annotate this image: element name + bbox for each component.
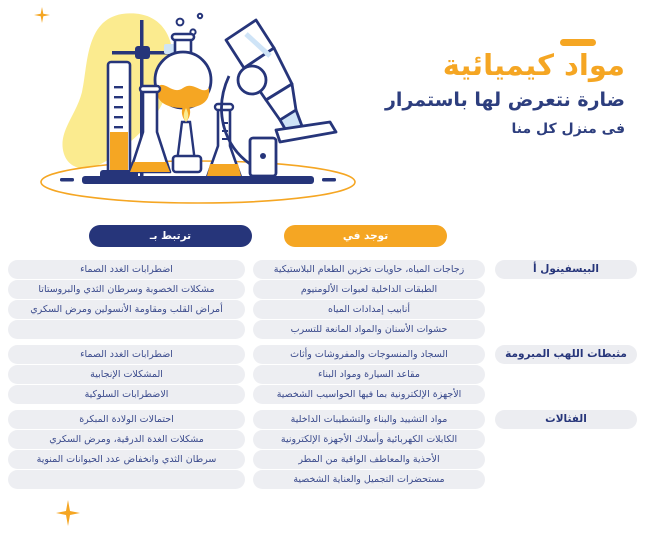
- row-category-spacer: [495, 300, 637, 319]
- chemistry-lab-illustration: [30, 4, 360, 209]
- row-category-spacer: [495, 430, 637, 449]
- page-subtitle: ضارة نتعرض لها باستمرار: [325, 88, 625, 113]
- row-linked-to: مشكلات الخصوبة وسرطان الثدي والبروستاتا: [8, 280, 245, 299]
- row-linked-to: المشكلات الإنجابية: [8, 365, 245, 384]
- row-category-spacer: [495, 385, 637, 404]
- table-row: أنابيب إمدادات المياه أمراض القلب ومقاوم…: [0, 300, 645, 319]
- row-found-in: السجاد والمنسوجات والمفروشات وأثاث: [253, 345, 485, 364]
- sparkle-icon-bottom-left: [56, 500, 80, 526]
- row-found-in: حشوات الأسنان والمواد المانعة للتسرب: [253, 320, 485, 339]
- row-linked-to-empty: [8, 470, 245, 489]
- column-header-linked-to: ترتبط بـ: [89, 225, 252, 247]
- row-category-label: مثبطات اللهب المبرومة: [495, 345, 637, 364]
- row-found-in: زجاجات المياه، حاويات تخزين الطعام البلا…: [253, 260, 485, 279]
- table-row: البيسفينول أ زجاجات المياه، حاويات تخزين…: [0, 260, 645, 279]
- table-section-bisphenol-a: البيسفينول أ زجاجات المياه، حاويات تخزين…: [0, 260, 645, 339]
- table-row: الكابلات الكهربائية وأسلاك الأجهزة الإلك…: [0, 430, 645, 449]
- row-linked-to: أمراض القلب ومقاومة الأنسولين ومرض السكر…: [8, 300, 245, 319]
- table-section-brominated-flame-retardants: مثبطات اللهب المبرومة السجاد والمنسوجات …: [0, 345, 645, 404]
- row-linked-to-empty: [8, 320, 245, 339]
- row-category-spacer: [495, 365, 637, 384]
- row-found-in: الكابلات الكهربائية وأسلاك الأجهزة الإلك…: [253, 430, 485, 449]
- row-found-in: الطبقات الداخلية لعبوات الألومنيوم: [253, 280, 485, 299]
- table-row: مثبطات اللهب المبرومة السجاد والمنسوجات …: [0, 345, 645, 364]
- infographic-page: مواد كيميائية ضارة نتعرض لها باستمرار فى…: [0, 0, 645, 533]
- row-category-label: الفثالات: [495, 410, 637, 429]
- row-linked-to: مشكلات الغدة الدرقية، ومرض السكري: [8, 430, 245, 449]
- row-category-spacer: [495, 450, 637, 469]
- title-block: مواد كيميائية ضارة نتعرض لها باستمرار فى…: [325, 48, 625, 138]
- row-found-in: الأحذية والمعاطف الواقية من المطر: [253, 450, 485, 469]
- table-row: الأجهزة الإلكترونية بما فيها الحواسيب ال…: [0, 385, 645, 404]
- row-linked-to: سرطان الثدي وانخفاض عدد الحيوانات المنوي…: [8, 450, 245, 469]
- table-row: الفثالات مواد التشييد والبناء والتشطيبات…: [0, 410, 645, 429]
- row-found-in: مقاعد السيارة ومواد البناء: [253, 365, 485, 384]
- row-found-in: مستحضرات التجميل والعناية الشخصية: [253, 470, 485, 489]
- table-row: الطبقات الداخلية لعبوات الألومنيوم مشكلا…: [0, 280, 645, 299]
- row-linked-to: احتمالات الولادة المبكرة: [8, 410, 245, 429]
- page-title: مواد كيميائية: [325, 48, 625, 83]
- table-row: حشوات الأسنان والمواد المانعة للتسرب: [0, 320, 645, 339]
- table-row: مقاعد السيارة ومواد البناء المشكلات الإن…: [0, 365, 645, 384]
- column-header-found-in: توجد في: [284, 225, 447, 247]
- table-row: مستحضرات التجميل والعناية الشخصية: [0, 470, 645, 489]
- row-found-in: الأجهزة الإلكترونية بما فيها الحواسيب ال…: [253, 385, 485, 404]
- chemicals-table: توجد في ترتبط بـ البيسفينول أ زجاجات الم…: [0, 225, 645, 495]
- row-linked-to: اضطرابات الغدد الصماء: [8, 345, 245, 364]
- row-category-label: البيسفينول أ: [495, 260, 637, 279]
- row-category-spacer: [495, 320, 637, 339]
- table-header-row: توجد في ترتبط بـ: [0, 225, 645, 251]
- row-found-in: مواد التشييد والبناء والتشطيبات الداخلية: [253, 410, 485, 429]
- page-subtitle-secondary: فى منزل كل منا: [325, 120, 625, 138]
- row-category-spacer: [495, 280, 637, 299]
- table-section-phthalates: الفثالات مواد التشييد والبناء والتشطيبات…: [0, 410, 645, 489]
- table-row: الأحذية والمعاطف الواقية من المطر سرطان …: [0, 450, 645, 469]
- hero-section: مواد كيميائية ضارة نتعرض لها باستمرار فى…: [0, 0, 645, 215]
- row-linked-to: اضطرابات الغدد الصماء: [8, 260, 245, 279]
- row-found-in: أنابيب إمدادات المياه: [253, 300, 485, 319]
- row-linked-to: الاضطرابات السلوكية: [8, 385, 245, 404]
- row-category-spacer: [495, 470, 637, 489]
